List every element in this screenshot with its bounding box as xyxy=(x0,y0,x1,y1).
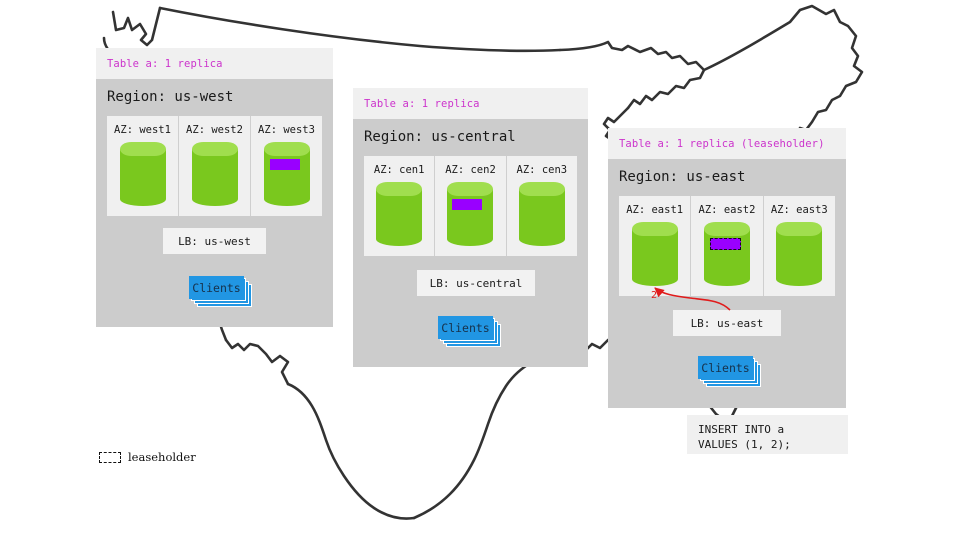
node-cylinder-west1[interactable] xyxy=(120,142,166,206)
cylinder-top xyxy=(519,182,565,196)
clients-label[interactable]: Clients xyxy=(438,316,493,339)
leaseholder-range-block[interactable] xyxy=(710,238,741,250)
node-cylinder-cen1[interactable] xyxy=(376,182,422,246)
clients-label[interactable]: Clients xyxy=(189,276,244,299)
region-panel-us-west: Table a: 1 replica Region: us-west AZ: w… xyxy=(96,48,333,327)
cylinder-top xyxy=(447,182,493,196)
region-title: Region: us-east xyxy=(619,169,745,185)
clients-label[interactable]: Clients xyxy=(698,356,753,379)
arrow-step-label: 2 xyxy=(651,290,657,301)
clients-stack-us-west[interactable]: Clients xyxy=(189,276,252,308)
az-cell-west3[interactable]: AZ: west3 xyxy=(251,116,322,216)
node-cylinder-east2[interactable] xyxy=(704,222,750,286)
panel-header-us-central: Table a: 1 replica xyxy=(353,88,588,119)
diagram-canvas: Table a: 1 replica Region: us-west AZ: w… xyxy=(0,0,960,540)
clients-stack-us-central[interactable]: Clients xyxy=(438,316,501,348)
az-cell-west1[interactable]: AZ: west1 xyxy=(107,116,179,216)
node-cylinder-east3[interactable] xyxy=(776,222,822,286)
az-label: AZ: west3 xyxy=(258,124,315,136)
node-cylinder-west3[interactable] xyxy=(264,142,310,206)
az-cell-east3[interactable]: AZ: east3 xyxy=(764,196,835,296)
load-balancer-us-east[interactable]: LB: us-east xyxy=(673,310,781,336)
az-label: AZ: cen1 xyxy=(374,164,425,176)
dashed-rect-icon xyxy=(99,452,121,463)
region-panel-us-central: Table a: 1 replica Region: us-central AZ… xyxy=(353,88,588,367)
sql-statement-note: INSERT INTO a VALUES (1, 2); xyxy=(687,415,848,454)
az-row-us-east: AZ: east1 AZ: east2 AZ: east3 xyxy=(619,196,835,296)
az-label: AZ: east1 xyxy=(626,204,683,216)
az-row-us-central: AZ: cen1 AZ: cen2 AZ: cen3 xyxy=(364,156,577,256)
node-cylinder-west2[interactable] xyxy=(192,142,238,206)
cylinder-body xyxy=(120,149,166,206)
cylinder-body xyxy=(376,189,422,246)
cylinder-body xyxy=(192,149,238,206)
region-title: Region: us-west xyxy=(107,89,233,105)
az-cell-west2[interactable]: AZ: west2 xyxy=(179,116,251,216)
az-label: AZ: west1 xyxy=(114,124,171,136)
az-cell-east1[interactable]: AZ: east1 xyxy=(619,196,691,296)
panel-header-us-west: Table a: 1 replica xyxy=(96,48,333,79)
replica-status-label: Table a: 1 replica xyxy=(107,58,223,70)
az-label: AZ: west2 xyxy=(186,124,243,136)
clients-stack-us-east[interactable]: Clients xyxy=(698,356,761,388)
az-label: AZ: cen3 xyxy=(517,164,568,176)
az-label: AZ: east3 xyxy=(771,204,828,216)
range-replica-block[interactable] xyxy=(270,159,300,170)
cylinder-body xyxy=(776,229,822,286)
node-cylinder-cen2[interactable] xyxy=(447,182,493,246)
cylinder-body xyxy=(632,229,678,286)
load-balancer-us-west[interactable]: LB: us-west xyxy=(163,228,266,254)
region-panel-us-east: Table a: 1 replica (leaseholder) Region:… xyxy=(608,128,846,408)
az-row-us-west: AZ: west1 AZ: west2 AZ: west3 xyxy=(107,116,322,216)
cylinder-body xyxy=(447,189,493,246)
node-cylinder-cen3[interactable] xyxy=(519,182,565,246)
panel-header-us-east: Table a: 1 replica (leaseholder) xyxy=(608,128,846,159)
az-cell-cen3[interactable]: AZ: cen3 xyxy=(507,156,577,256)
cylinder-top xyxy=(192,142,238,156)
range-replica-block[interactable] xyxy=(452,199,482,210)
cylinder-top xyxy=(704,222,750,236)
cylinder-top xyxy=(376,182,422,196)
legend-label: leaseholder xyxy=(128,450,196,464)
region-title: Region: us-central xyxy=(364,129,516,145)
load-balancer-us-central[interactable]: LB: us-central xyxy=(417,270,535,296)
replica-status-label: Table a: 1 replica (leaseholder) xyxy=(619,138,825,150)
legend-leaseholder: leaseholder xyxy=(99,450,196,464)
node-cylinder-east1[interactable] xyxy=(632,222,678,286)
cylinder-top xyxy=(632,222,678,236)
az-cell-cen2[interactable]: AZ: cen2 xyxy=(435,156,506,256)
cylinder-body xyxy=(519,189,565,246)
replica-status-label: Table a: 1 replica xyxy=(364,98,480,110)
cylinder-top xyxy=(120,142,166,156)
az-cell-east2[interactable]: AZ: east2 xyxy=(691,196,763,296)
cylinder-body xyxy=(264,149,310,206)
az-label: AZ: cen2 xyxy=(445,164,496,176)
az-label: AZ: east2 xyxy=(699,204,756,216)
cylinder-top xyxy=(776,222,822,236)
cylinder-top xyxy=(264,142,310,156)
az-cell-cen1[interactable]: AZ: cen1 xyxy=(364,156,435,256)
